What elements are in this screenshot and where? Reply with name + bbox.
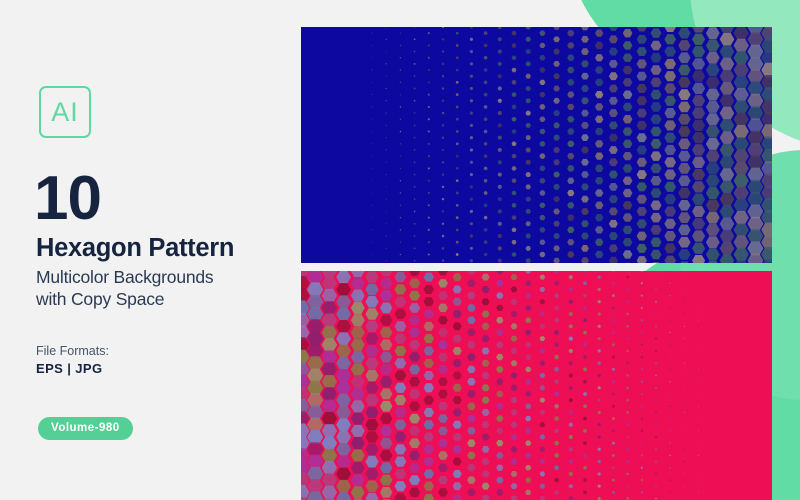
hexagon-grid-blue: [301, 27, 772, 263]
hexagon-pattern-preview-blue: [301, 27, 772, 263]
info-column: AI 10 Hexagon Pattern Multicolor Backgro…: [0, 0, 301, 500]
item-count: 10: [34, 168, 101, 230]
file-formats-label: File Formats:: [36, 344, 109, 358]
page-subtitle-line2: with Copy Space: [36, 289, 164, 309]
hexagon-pattern-preview-pink: [301, 271, 772, 500]
volume-badge: Volume-980: [38, 417, 133, 440]
adobe-illustrator-badge-label: AI: [51, 99, 79, 126]
hexagon-grid-pink: [301, 271, 772, 500]
file-formats-value: EPS | JPG: [36, 361, 103, 376]
page-title: Hexagon Pattern: [36, 236, 234, 262]
poster-canvas: AI 10 Hexagon Pattern Multicolor Backgro…: [0, 0, 800, 500]
page-subtitle: Multicolor Backgroundswith Copy Space: [36, 266, 214, 311]
adobe-illustrator-badge: AI: [39, 86, 91, 138]
page-subtitle-line1: Multicolor Backgrounds: [36, 267, 214, 287]
